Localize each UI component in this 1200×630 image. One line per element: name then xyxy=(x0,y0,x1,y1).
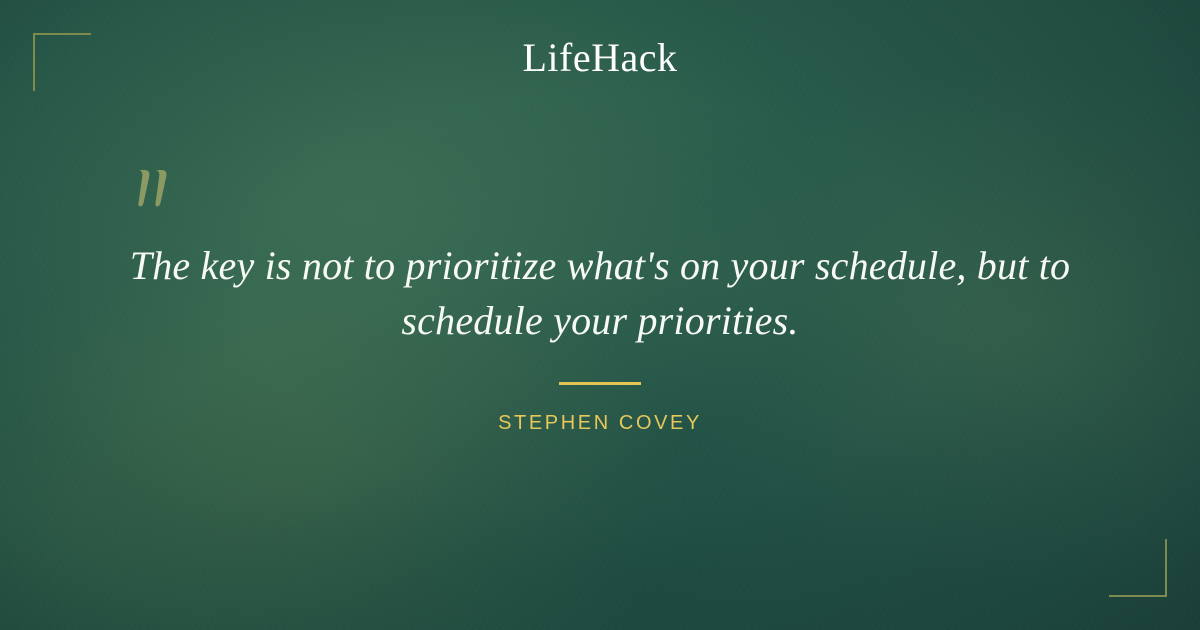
quote-card: LifeHack The key is not to prioritize wh… xyxy=(0,0,1200,630)
lifehack-logo: LifeHack xyxy=(0,38,1200,78)
quote-line-2: schedule your priorities. xyxy=(401,298,798,343)
corner-bracket-bottom-right-icon xyxy=(1109,539,1167,597)
double-quote-icon xyxy=(131,168,177,216)
quote-line-1: The key is not to prioritize what's on y… xyxy=(130,243,1070,288)
attribution-divider xyxy=(559,382,641,385)
quote-block: The key is not to prioritize what's on y… xyxy=(100,238,1100,348)
author-name: STEPHEN COVEY xyxy=(0,413,1200,433)
quote-text: The key is not to prioritize what's on y… xyxy=(100,238,1100,348)
